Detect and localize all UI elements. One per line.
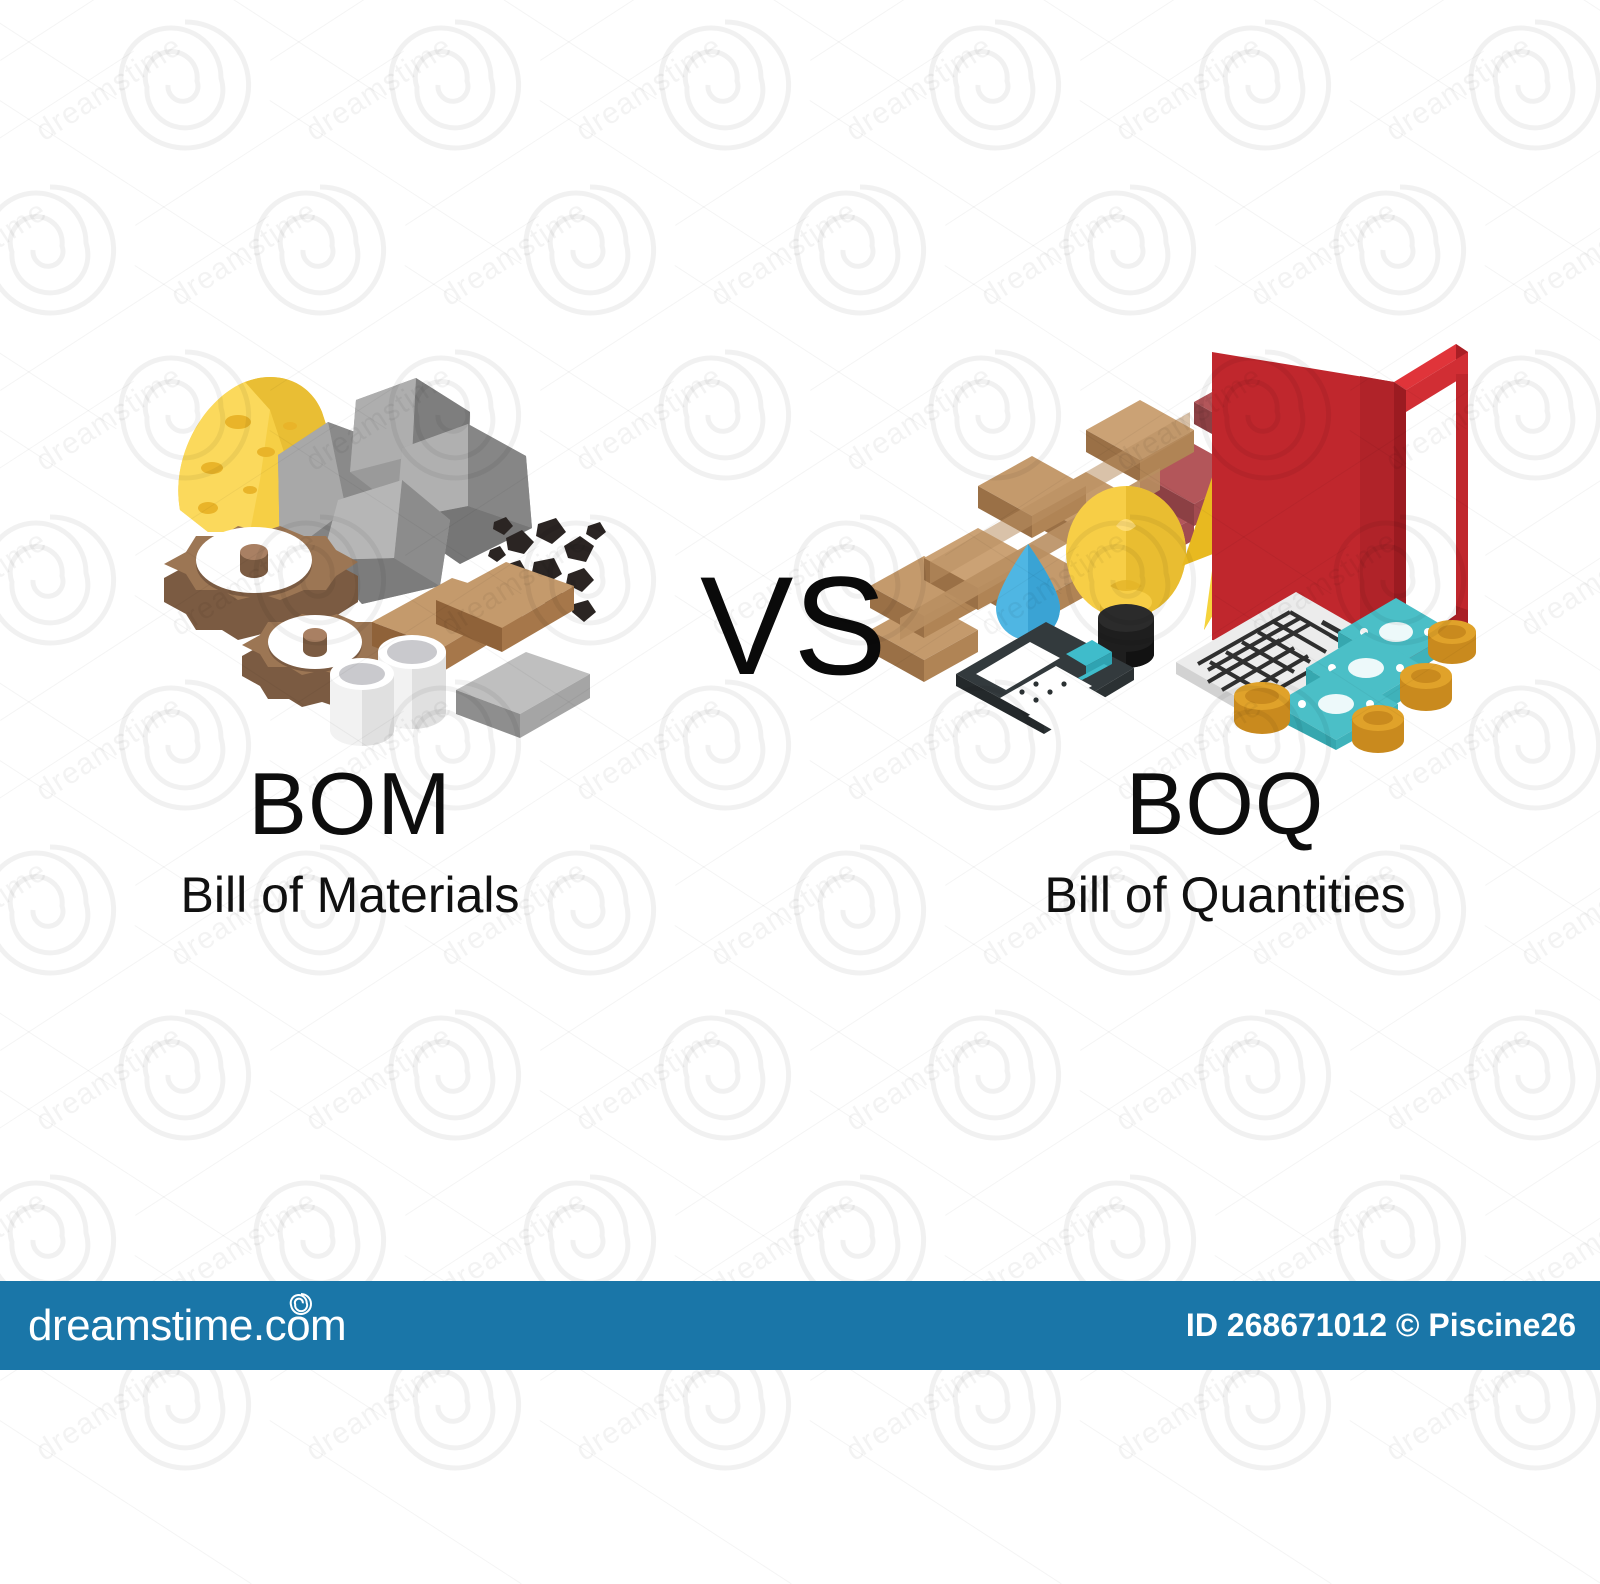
infographic-canvas: BOM Bill of Materials VS [0,0,1600,1370]
boq-caption: BOQ Bill of Quantities [850,760,1600,920]
gold-coin-icon [1400,663,1452,711]
boq-abbr: BOQ [850,760,1600,848]
footer-credit: ID 268671012 © Piscine26 [1186,1307,1576,1344]
grey-brick-icon [456,652,590,738]
watermark-rule [809,1420,1061,1584]
white-pipe-icon [330,658,394,746]
gold-coin-icon [1428,620,1476,664]
gold-coin-icon [1234,682,1290,734]
boq-panel: BOQ Bill of Quantities [850,0,1600,1260]
boq-full-label: Bill of Quantities [850,870,1600,920]
light-bulb-icon [1066,486,1186,668]
bom-panel: BOM Bill of Materials [0,0,700,1260]
footer-bar: dreamstime.com ID 268671012 © Piscine26 [0,1281,1600,1370]
watermark-rule [1079,1420,1331,1584]
watermark-text: dreamstime [705,194,863,313]
watermark-rule [1349,1420,1600,1584]
bom-illustration [150,360,620,730]
watermark-text: dreamstime [705,854,863,973]
watermark-rule [269,1420,521,1584]
bom-full-label: Bill of Materials [0,870,700,920]
dreamstime-spiral-icon [288,1291,314,1317]
boq-illustration [860,330,1500,750]
gold-coin-icon [1352,705,1404,753]
bom-abbr: BOM [0,760,700,848]
bom-caption: BOM Bill of Materials [0,760,700,920]
watermark-rule [539,1420,791,1584]
vs-divider: VS [700,556,880,696]
watermark-rule [0,1420,252,1584]
